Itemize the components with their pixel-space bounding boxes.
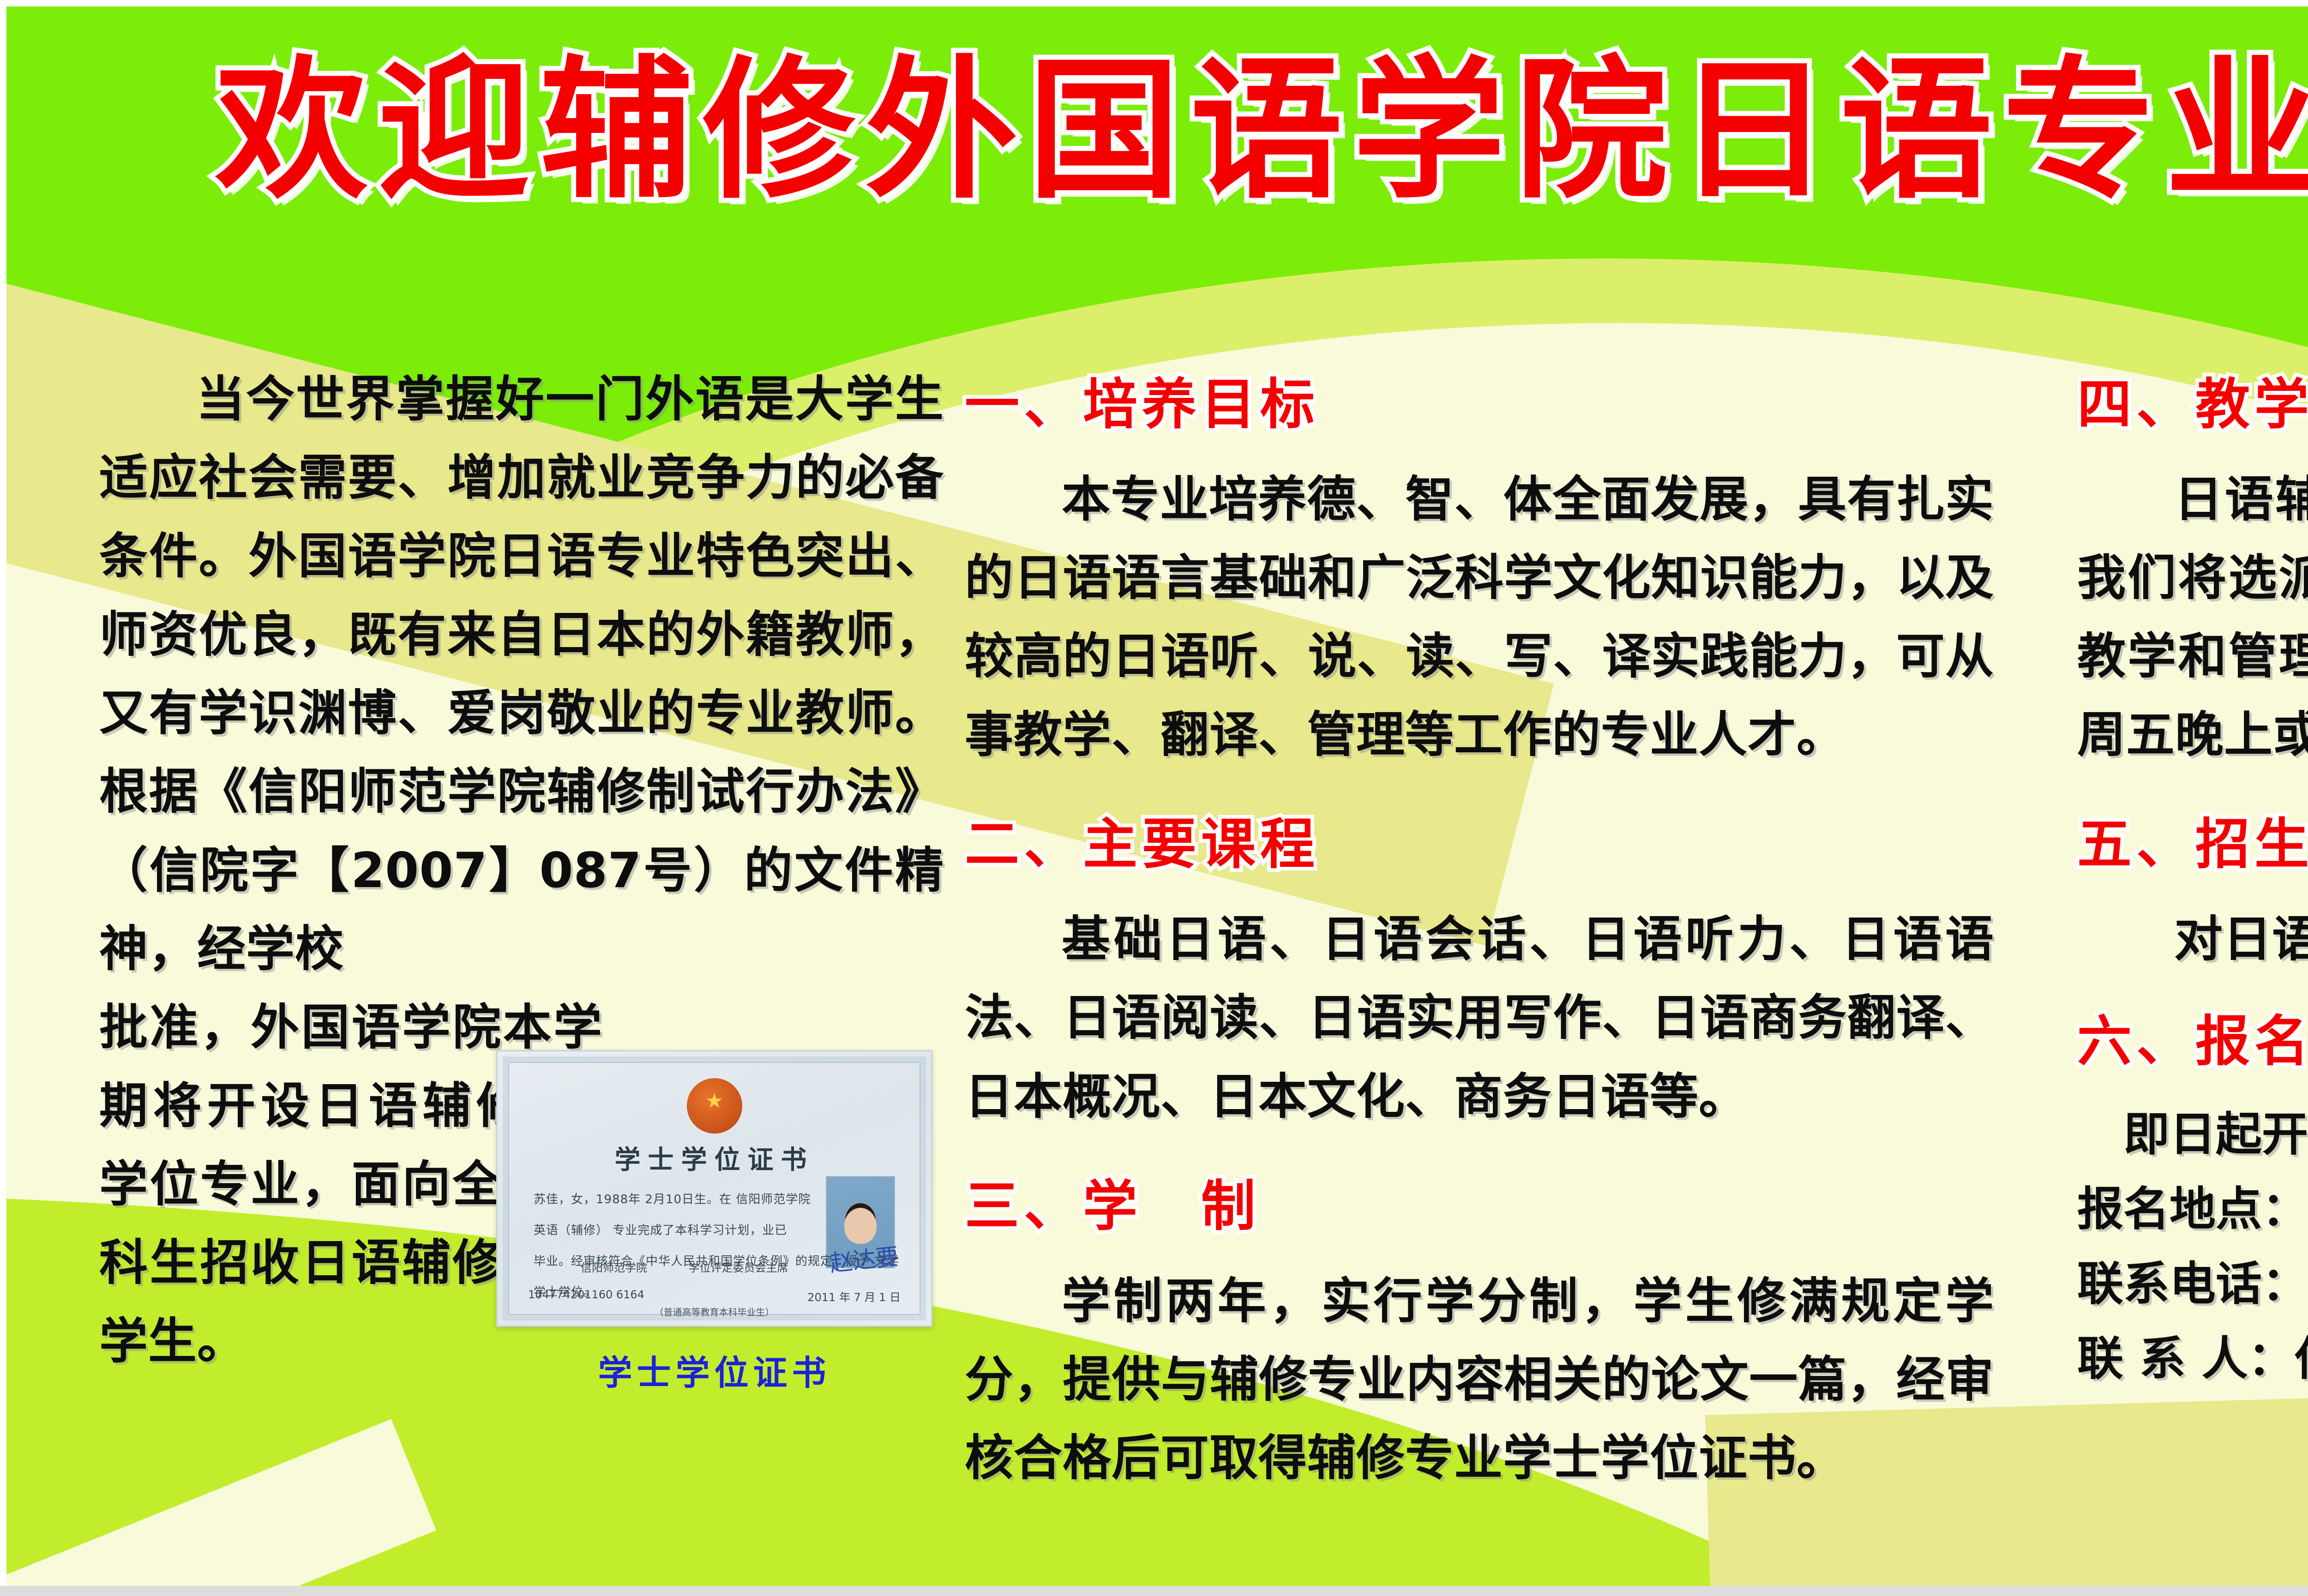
section-three: 三、学 制 学制两年，实行学分制，学生修满规定学分，提供与辅修专业内容相关的论文… xyxy=(965,1162,1994,1497)
section-three-heading: 三、学 制 xyxy=(965,1162,1994,1241)
contact-phone: 联系电话：6393665（内线83665） xyxy=(2077,1247,2308,1321)
section-six-heading: 六、报名时间与地点 xyxy=(2077,997,2308,1076)
certificate-signature-row: 信阳师范学院 学位评定委员会主席 赵达要 xyxy=(581,1242,899,1275)
section-one: 一、培养目标 本专业培养德、智、体全面发展，具有扎实的日语语言基础和广泛科学文化… xyxy=(965,360,1994,774)
certificate-number: 104774201160 6164 xyxy=(528,1288,644,1304)
certificate-footer-row: 104774201160 6164 2011 年 7 月 1 日 xyxy=(528,1288,901,1304)
section-five-heading: 五、招生对象 xyxy=(2077,800,2308,879)
certificate-sign-school: 信阳师范学院 xyxy=(581,1259,647,1275)
contact-person: 联 系 人：付老师 xyxy=(2077,1321,2308,1396)
section-five-body: 对日语有浓厚兴趣的本科生。 xyxy=(2077,900,2308,978)
certificate-line-2: 英语（辅修） 专业完成了本科学习计划，业已 xyxy=(534,1221,811,1238)
certificate-sign-committee: 学位评定委员会主席 xyxy=(689,1259,788,1275)
national-emblem-icon xyxy=(687,1078,742,1134)
section-three-body: 学制两年，实行学分制，学生修满规定学分，提供与辅修专业内容相关的论文一篇，经审核… xyxy=(965,1262,1994,1497)
certificate-line-1: 苏佳，女，1988年 2月10日生。在 信阳师范学院 xyxy=(534,1190,811,1207)
contact-open-notice: 即日起开始报名。 xyxy=(2077,1097,2308,1172)
section-four-body: 日语辅修专业将纳入我院正常教学管理，我们将选派责任心强、水平高的教师负责处理教学… xyxy=(2077,460,2308,774)
section-four: 四、教学管理 日语辅修专业将纳入我院正常教学管理，我们将选派责任心强、水平高的教… xyxy=(2077,360,2308,774)
section-five: 五、招生对象 对日语有浓厚兴趣的本科生。 xyxy=(2077,800,2308,978)
poster-root: 欢迎辅修外国语学院日语专业第二学位 当今世界掌握好一门外语是大学生适应社会需要、… xyxy=(0,0,2308,1596)
section-two-heading: 二、主要课程 xyxy=(965,800,1994,879)
section-one-heading: 一、培养目标 xyxy=(965,360,1994,439)
content-columns: 当今世界掌握好一门外语是大学生适应社会需要、增加就业竞争力的必备条件。外国语学院… xyxy=(0,360,2308,1514)
certificate-image: 学士学位证书 苏佳，女，1988年 2月10日生。在 信阳师范学院 英语（辅修）… xyxy=(496,1050,932,1327)
section-two-body: 基础日语、日语会话、日语听力、日语语法、日语阅读、日语实用写作、日语商务翻译、日… xyxy=(965,900,1994,1135)
certificate-note: （普通高等教育本科毕业生） xyxy=(498,1305,931,1318)
column-right: 四、教学管理 日语辅修专业将纳入我院正常教学管理，我们将选派责任心强、水平高的教… xyxy=(2077,360,2308,1422)
column-middle: 一、培养目标 本专业培养德、智、体全面发展，具有扎实的日语语言基础和广泛科学文化… xyxy=(965,360,1994,1523)
section-four-heading: 四、教学管理 xyxy=(2077,360,2308,439)
section-two: 二、主要课程 基础日语、日语会话、日语听力、日语语法、日语阅读、日语实用写作、日… xyxy=(965,800,1994,1135)
section-one-body: 本专业培养德、智、体全面发展，具有扎实的日语语言基础和广泛科学文化知识能力，以及… xyxy=(965,460,1994,774)
certificate-doc-title: 学士学位证书 xyxy=(498,1139,931,1176)
certificate-figure: 学士学位证书 苏佳，女，1988年 2月10日生。在 信阳师范学院 英语（辅修）… xyxy=(496,1050,932,1395)
poster-title-text: 欢迎辅修外国语学院日语专业第二学位 xyxy=(216,54,2308,207)
contact-place: 报名地点：人文楼5-3室 xyxy=(2077,1172,2308,1247)
certificate-sign-name: 赵达要 xyxy=(828,1238,901,1278)
certificate-caption: 学士学位证书 xyxy=(496,1345,932,1395)
poster-frame-bottom xyxy=(0,1586,2308,1596)
certificate-issue-date: 2011 年 7 月 1 日 xyxy=(807,1288,901,1304)
intro-paragraph-part1: 当今世界掌握好一门外语是大学生适应社会需要、增加就业竞争力的必备条件。外国语学院… xyxy=(99,360,944,988)
poster-title: 欢迎辅修外国语学院日语专业第二学位 xyxy=(0,54,2308,207)
section-six: 六、报名时间与地点 即日起开始报名。 报名地点：人文楼5-3室 联系电话：639… xyxy=(2077,997,2308,1396)
